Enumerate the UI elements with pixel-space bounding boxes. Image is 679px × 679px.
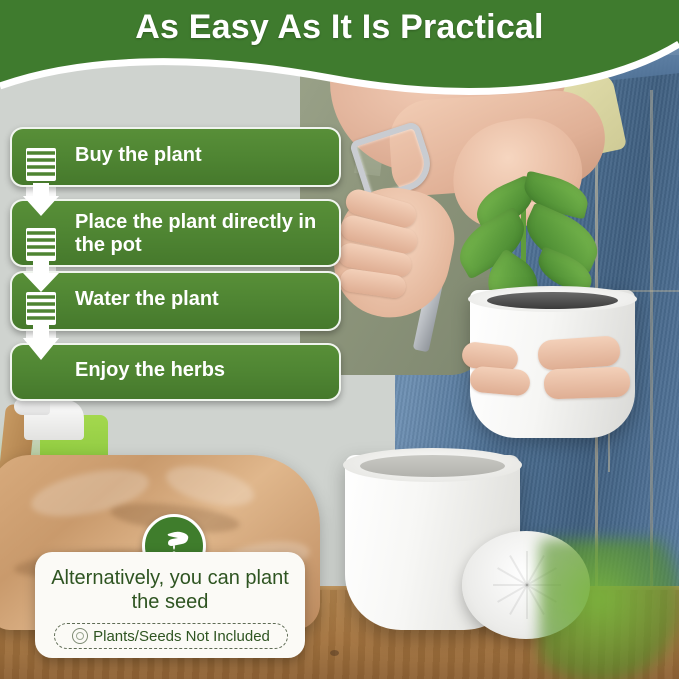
header-banner: As Easy As It Is Practical [0,0,679,100]
infographic-page: As Easy As It Is Practical [0,0,679,679]
disclaimer-pill: Plants/Seeds Not Included [54,623,288,649]
disclaimer-text: Plants/Seeds Not Included [93,628,270,645]
finger [469,365,531,396]
alternative-text: Alternatively, you can plant the seed [45,566,295,614]
blurred-leaf-foreground [539,539,679,679]
finger [544,367,631,400]
page-title: As Easy As It Is Practical [0,8,679,47]
soil-speck [330,650,339,656]
alternative-callout-card: Alternatively, you can plant the seed Pl… [35,552,305,658]
no-plants-included-icon [72,628,88,644]
pot-interior [487,292,618,309]
finger [537,335,621,371]
pot-front-interior [360,455,505,477]
spray-bottle-nozzle [14,398,50,415]
